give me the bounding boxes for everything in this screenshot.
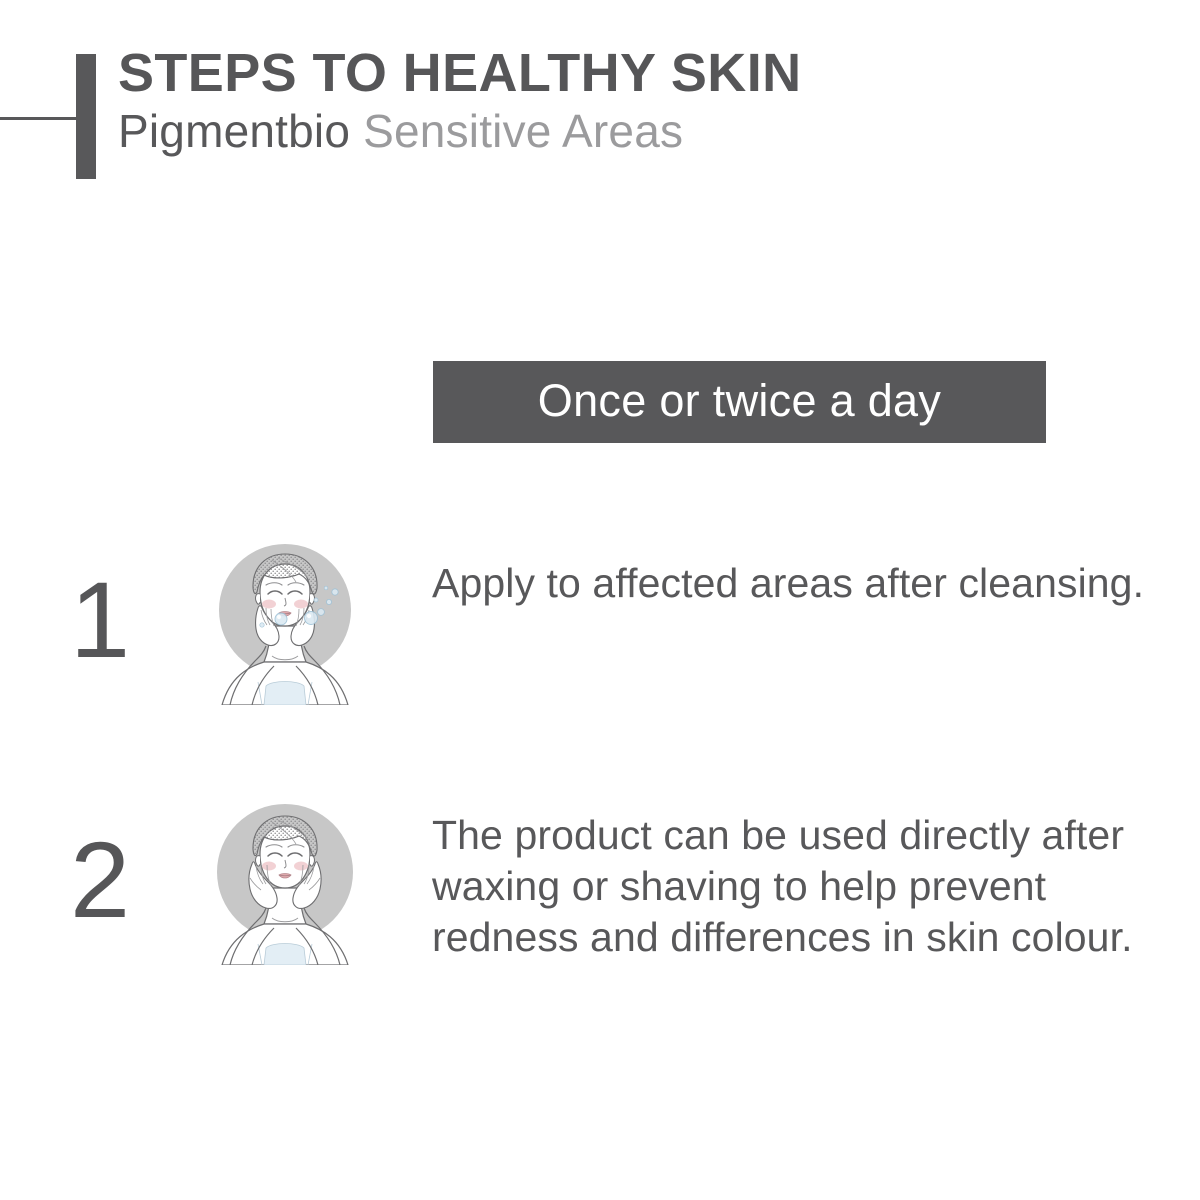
- logo-horizontal-rule-icon: [0, 117, 78, 120]
- step-text-1: Apply to affected areas after cleansing.: [370, 530, 1200, 609]
- frequency-banner: Once or twice a day: [433, 361, 1046, 443]
- infographic-page: STEPS TO HEALTHY SKIN Pigmentbio Sensiti…: [0, 0, 1200, 1200]
- woman-applying-product-with-bubbles-icon: [200, 530, 370, 705]
- frequency-banner-label: Once or twice a day: [538, 378, 941, 427]
- step-row-2: 2: [0, 790, 1200, 965]
- step-number-2: 2: [0, 790, 200, 934]
- header-block: STEPS TO HEALTHY SKIN Pigmentbio Sensiti…: [118, 46, 1118, 155]
- logo-vertical-bar-icon: [76, 54, 96, 179]
- step-text-2: The product can be used directly after w…: [370, 790, 1200, 962]
- page-title: STEPS TO HEALTHY SKIN: [118, 46, 1118, 101]
- woman-touching-face-icon: [200, 790, 370, 965]
- step-number-1: 1: [0, 530, 200, 674]
- product-variant: Sensitive Areas: [363, 105, 683, 157]
- page-subtitle: Pigmentbio Sensitive Areas: [118, 107, 1118, 155]
- step-row-1: 1: [0, 530, 1200, 705]
- brand-name: Pigmentbio: [118, 105, 350, 157]
